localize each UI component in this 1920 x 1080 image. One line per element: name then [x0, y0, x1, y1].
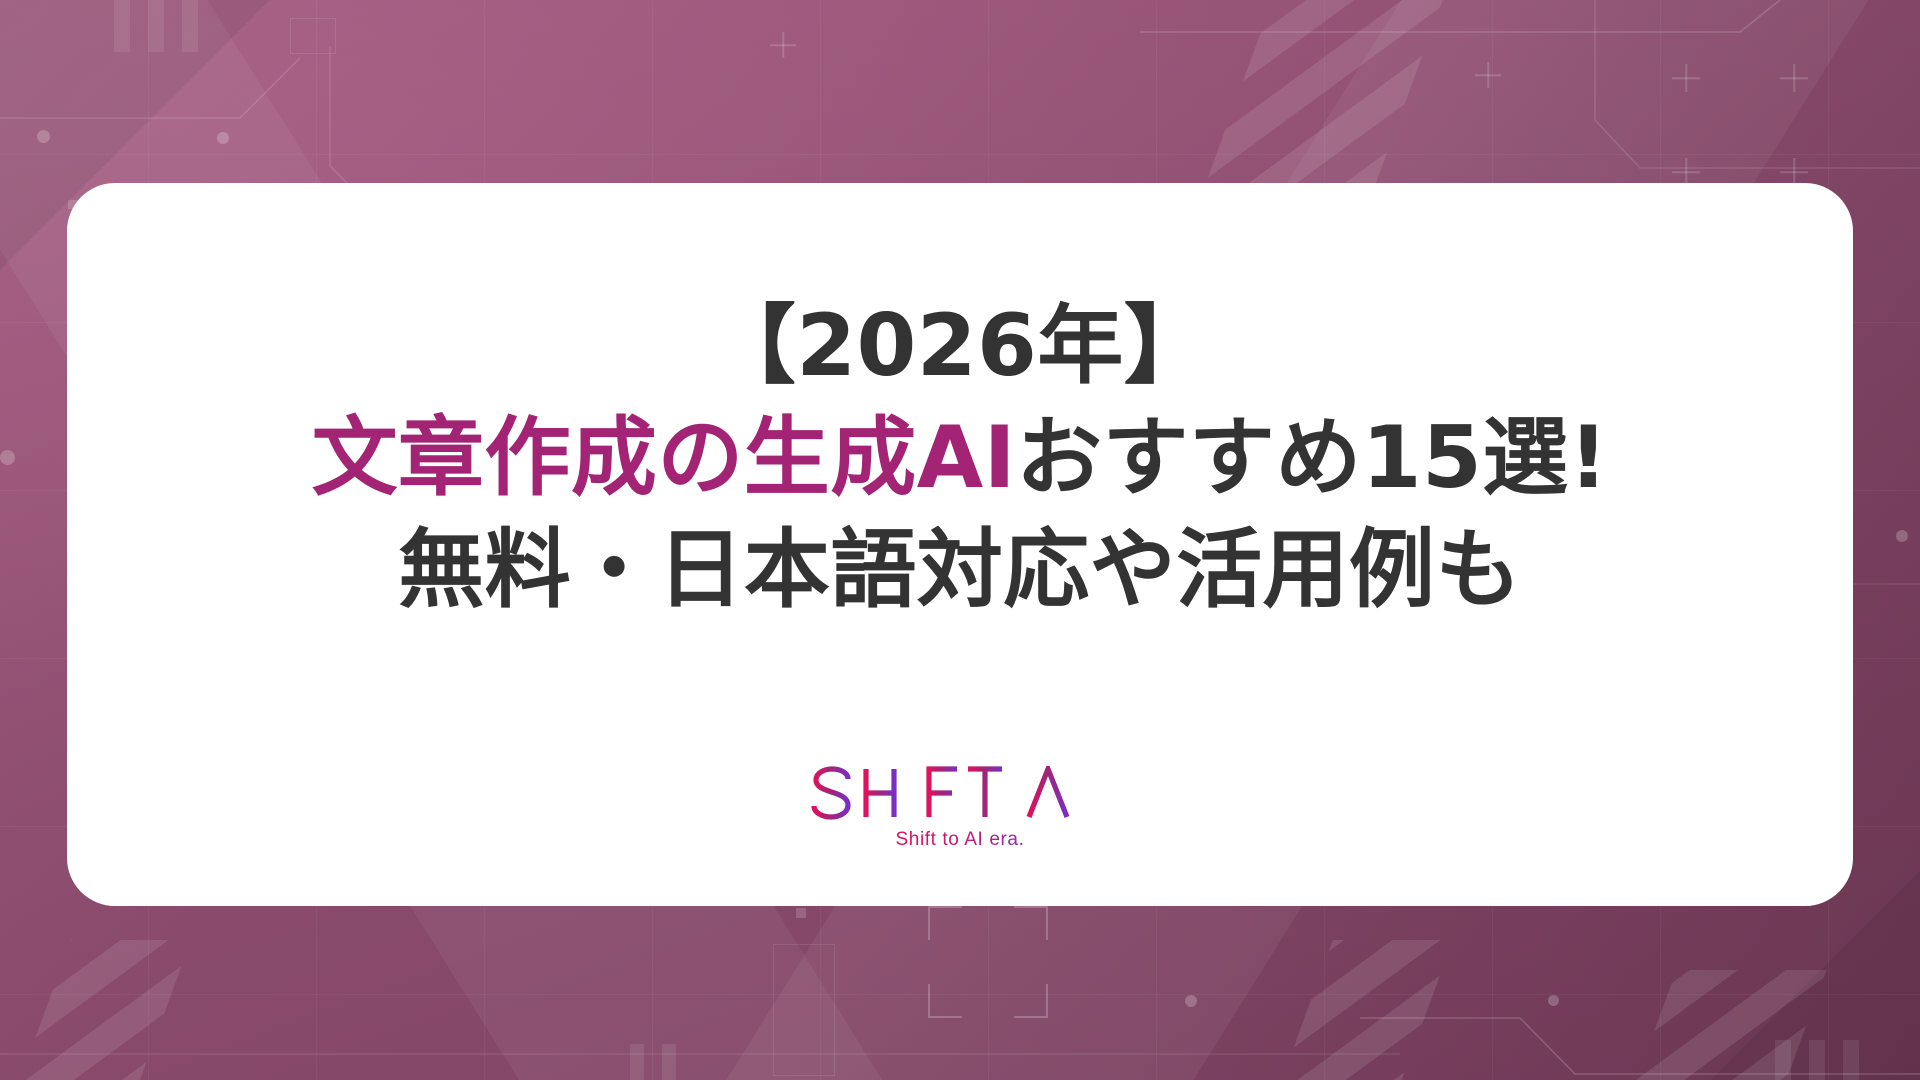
- decor-plus-5: [1475, 62, 1501, 88]
- brand-logo: Shift to AI era.: [810, 766, 1110, 852]
- title-line-2-highlight: 文章作成の生成AI: [312, 408, 1016, 508]
- title-line-2-rest: おすすめ15選!: [1016, 408, 1608, 508]
- decor-dot-4: [1548, 995, 1559, 1006]
- decor-plus-4: [1780, 158, 1808, 186]
- decor-plus-1: [1672, 64, 1700, 92]
- title-line-3: 無料・日本語対応や活用例も: [67, 515, 1853, 627]
- decor-plus-6: [770, 32, 796, 58]
- content-card: 【2026年】 文章作成の生成AIおすすめ15選! 無料・日本語対応や活用例も: [67, 183, 1853, 906]
- decor-dot-5: [1185, 995, 1197, 1007]
- decor-square-1: [796, 908, 806, 918]
- decor-rect-2: [290, 18, 336, 54]
- decor-plus-2: [1780, 64, 1808, 92]
- thumbnail-canvas: 【2026年】 文章作成の生成AIおすすめ15選! 無料・日本語対応や活用例も: [0, 0, 1920, 1080]
- logo-tagline: Shift to AI era.: [896, 829, 1025, 850]
- circuit-trace-bottom-right: [1360, 1000, 1920, 1080]
- decor-dot-6: [1896, 530, 1908, 542]
- page-title: 【2026年】 文章作成の生成AIおすすめ15選! 無料・日本語対応や活用例も: [67, 291, 1853, 626]
- bracket-frame-bottom-center: [928, 906, 1048, 1018]
- decor-dot-1: [37, 130, 50, 143]
- decor-dot-3: [0, 450, 15, 465]
- vertical-bars-top-left: [114, 0, 198, 52]
- circuit-trace-bottom-left: [0, 1000, 1400, 1080]
- decor-plus-3: [1672, 158, 1700, 186]
- shift-ai-logo-icon: Shift to AI era.: [810, 766, 1110, 852]
- decor-dot-2: [217, 132, 229, 144]
- title-line-1: 【2026年】: [67, 291, 1853, 403]
- title-line-2: 文章作成の生成AIおすすめ15選!: [67, 403, 1853, 515]
- decor-rect-1: [773, 944, 835, 1076]
